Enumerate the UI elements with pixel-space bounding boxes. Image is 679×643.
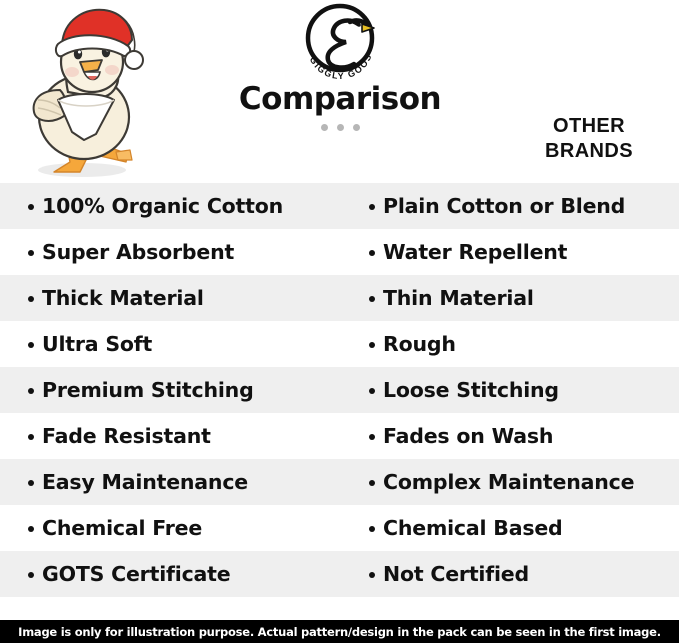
bullet-icon <box>369 388 375 394</box>
dot-separator <box>180 124 500 131</box>
table-row: Ultra Soft Rough <box>0 321 679 367</box>
table-row: GOTS Certificate Not Certified <box>0 551 679 597</box>
other-brands-cell: Chemical Based <box>360 505 679 551</box>
bullet-icon <box>369 434 375 440</box>
other-brands-cell: Water Repellent <box>360 229 679 275</box>
bullet-icon <box>369 480 375 486</box>
other-brands-feature: Not Certified <box>383 562 529 586</box>
table-row: Thick Material Thin Material <box>0 275 679 321</box>
table-row: Chemical Free Chemical Based <box>0 505 679 551</box>
separator-dot <box>321 124 328 131</box>
other-brands-feature: Plain Cotton or Blend <box>383 194 625 218</box>
table-row: Fade Resistant Fades on Wash <box>0 413 679 459</box>
separator-dot <box>337 124 344 131</box>
bullet-icon <box>369 250 375 256</box>
goose-monogram-icon: GIGGLY GOOSE <box>288 2 392 82</box>
page-title: Comparison <box>180 81 500 117</box>
bullet-icon <box>28 296 34 302</box>
other-brands-feature: Rough <box>383 332 456 356</box>
other-brands-cell: Fades on Wash <box>360 413 679 459</box>
other-brands-cell: Not Certified <box>360 551 679 597</box>
our-brand-feature: Thick Material <box>42 286 204 310</box>
disclaimer-text: Image is only for illustration purpose. … <box>18 625 661 639</box>
our-brand-cell: Chemical Free <box>0 505 360 551</box>
table-row: 100% Organic Cotton Plain Cotton or Blen… <box>0 183 679 229</box>
bullet-icon <box>28 526 34 532</box>
other-brands-feature: Loose Stitching <box>383 378 559 402</box>
our-brand-cell: GOTS Certificate <box>0 551 360 597</box>
other-brands-cell: Plain Cotton or Blend <box>360 183 679 229</box>
other-brands-cell: Thin Material <box>360 275 679 321</box>
other-brands-feature: Chemical Based <box>383 516 563 540</box>
our-brand-cell: Super Absorbent <box>0 229 360 275</box>
bullet-icon <box>28 342 34 348</box>
bullet-icon <box>28 204 34 210</box>
our-brand-feature: Premium Stitching <box>42 378 254 402</box>
bullet-icon <box>369 572 375 578</box>
other-brands-line-1: OTHER <box>499 114 679 139</box>
bullet-icon <box>369 526 375 532</box>
other-brands-line-2: BRANDS <box>499 139 679 164</box>
our-brand-cell: Easy Maintenance <box>0 459 360 505</box>
table-row: Super Absorbent Water Repellent <box>0 229 679 275</box>
other-brands-cell: Loose Stitching <box>360 367 679 413</box>
other-brands-feature: Fades on Wash <box>383 424 553 448</box>
our-brand-feature: GOTS Certificate <box>42 562 230 586</box>
cartoon-goose-with-santa-hat-icon <box>8 4 160 180</box>
our-brand-cell: Premium Stitching <box>0 367 360 413</box>
our-brand-feature: 100% Organic Cotton <box>42 194 283 218</box>
bullet-icon <box>369 342 375 348</box>
separator-dot <box>353 124 360 131</box>
comparison-infographic: GIGGLY GOOSE Comparison OTHER BRANDS 100… <box>0 0 679 643</box>
comparison-table: 100% Organic Cotton Plain Cotton or Blen… <box>0 183 679 597</box>
other-brands-feature: Complex Maintenance <box>383 470 634 494</box>
bullet-icon <box>369 204 375 210</box>
header: GIGGLY GOOSE Comparison OTHER BRANDS <box>0 0 679 183</box>
bullet-icon <box>28 434 34 440</box>
table-row: Easy Maintenance Complex Maintenance <box>0 459 679 505</box>
other-brands-feature: Water Repellent <box>383 240 567 264</box>
our-brand-cell: Fade Resistant <box>0 413 360 459</box>
our-brand-cell: Thick Material <box>0 275 360 321</box>
other-brands-feature: Thin Material <box>383 286 534 310</box>
bullet-icon <box>28 480 34 486</box>
disclaimer-banner: Image is only for illustration purpose. … <box>0 620 679 643</box>
our-brand-feature: Easy Maintenance <box>42 470 248 494</box>
other-brands-heading: OTHER BRANDS <box>499 114 679 164</box>
bullet-icon <box>369 296 375 302</box>
our-brand-feature: Chemical Free <box>42 516 202 540</box>
our-brand-feature: Super Absorbent <box>42 240 234 264</box>
other-brands-cell: Complex Maintenance <box>360 459 679 505</box>
bullet-icon <box>28 572 34 578</box>
other-brands-cell: Rough <box>360 321 679 367</box>
bullet-icon <box>28 250 34 256</box>
our-brand-feature: Ultra Soft <box>42 332 152 356</box>
our-brand-feature: Fade Resistant <box>42 424 211 448</box>
our-brand-cell: 100% Organic Cotton <box>0 183 360 229</box>
bullet-icon <box>28 388 34 394</box>
our-brand-cell: Ultra Soft <box>0 321 360 367</box>
table-row: Premium Stitching Loose Stitching <box>0 367 679 413</box>
